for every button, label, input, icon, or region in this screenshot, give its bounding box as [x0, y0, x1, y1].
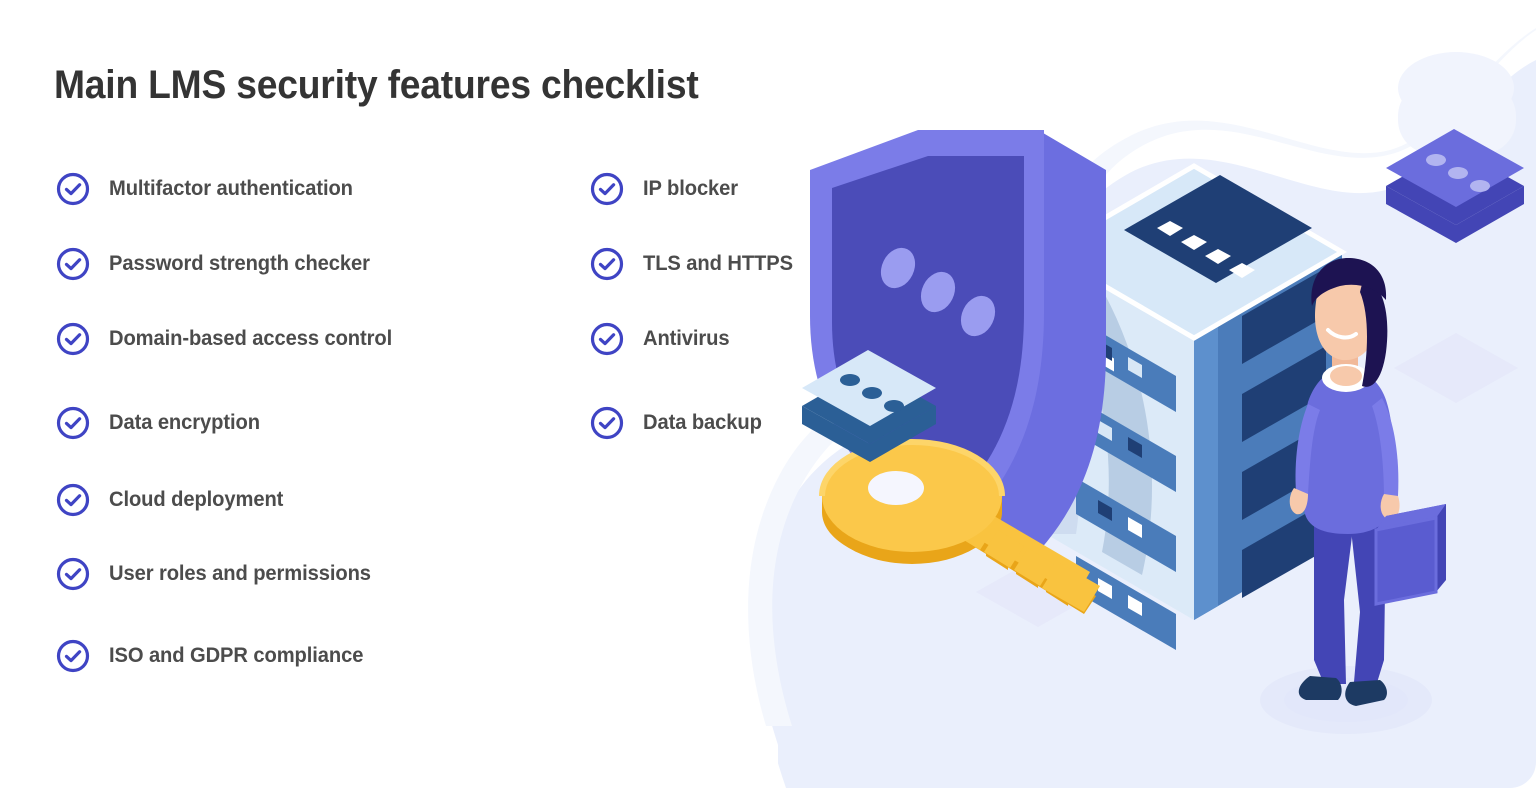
- list-item-label: IP blocker: [643, 177, 738, 201]
- check-circle-icon: [56, 172, 90, 206]
- checklist-column-left: Multifactor authentication Password stre…: [56, 168, 556, 677]
- check-circle-icon: [590, 172, 624, 206]
- check-circle-icon: [590, 406, 624, 440]
- list-item-label: Antivirus: [643, 327, 730, 351]
- check-circle-icon: [56, 322, 90, 356]
- list-item-label: ISO and GDPR compliance: [109, 644, 363, 668]
- list-item[interactable]: Password strength checker: [56, 243, 556, 285]
- list-item-label: Cloud deployment: [109, 488, 283, 512]
- list-item[interactable]: Multifactor authentication: [56, 168, 556, 210]
- check-circle-icon: [590, 247, 624, 281]
- content-panel: Main LMS security features checklist Mul…: [0, 0, 900, 788]
- list-item-label: Password strength checker: [109, 252, 370, 276]
- infographic-card: Main LMS security features checklist Mul…: [0, 0, 1536, 788]
- list-item[interactable]: Data backup: [590, 402, 890, 444]
- list-item[interactable]: Cloud deployment: [56, 479, 556, 521]
- checklist-column-right: IP blocker TLS and HTTPS: [590, 168, 890, 444]
- check-circle-icon: [590, 322, 624, 356]
- list-item-label: Data backup: [643, 411, 762, 435]
- list-item[interactable]: Data encryption: [56, 402, 556, 444]
- list-item-label: Domain-based access control: [109, 327, 392, 351]
- check-circle-icon: [56, 406, 90, 440]
- check-circle-icon: [56, 247, 90, 281]
- list-item[interactable]: Domain-based access control: [56, 318, 556, 360]
- page-title: Main LMS security features checklist: [54, 62, 699, 108]
- list-item[interactable]: IP blocker: [590, 168, 890, 210]
- check-circle-icon: [56, 557, 90, 591]
- list-item[interactable]: Antivirus: [590, 318, 890, 360]
- list-item-label: Multifactor authentication: [109, 177, 353, 201]
- list-item-label: TLS and HTTPS: [643, 252, 793, 276]
- check-circle-icon: [56, 639, 90, 673]
- list-item[interactable]: ISO and GDPR compliance: [56, 635, 556, 677]
- list-item[interactable]: TLS and HTTPS: [590, 243, 890, 285]
- list-item-label: User roles and permissions: [109, 562, 371, 586]
- check-circle-icon: [56, 483, 90, 517]
- list-item[interactable]: User roles and permissions: [56, 553, 556, 595]
- list-item-label: Data encryption: [109, 411, 260, 435]
